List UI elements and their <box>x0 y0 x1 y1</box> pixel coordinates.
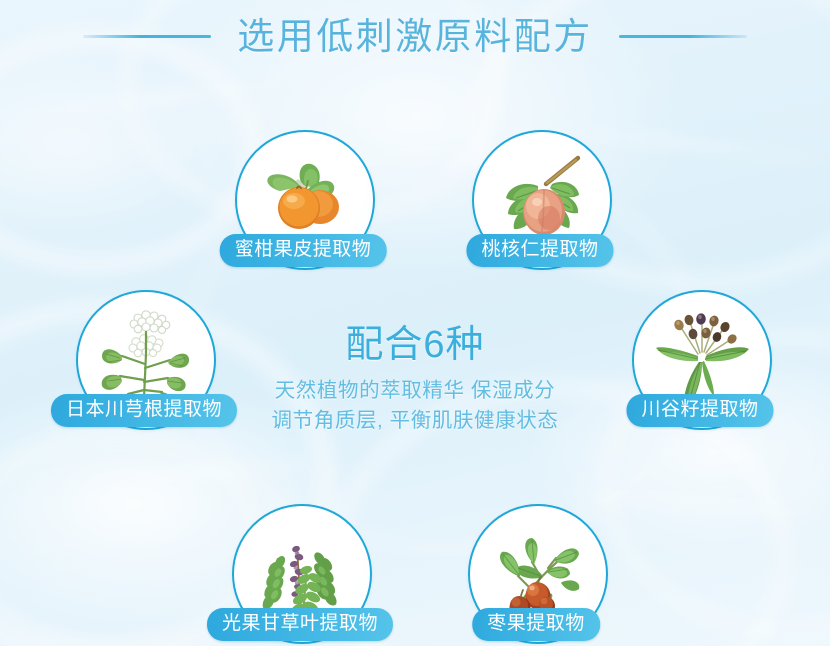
ingredient-label: 桃核仁提取物 <box>466 234 613 267</box>
ingredient-label: 枣果提取物 <box>472 608 600 641</box>
header: 选用低刺激原料配方 <box>0 0 830 72</box>
ingredient-label: 蜜柑果皮提取物 <box>220 234 387 267</box>
title-rule-left <box>83 35 211 38</box>
page-title: 选用低刺激原料配方 <box>237 18 593 55</box>
ingredient-badge-mandarin[interactable]: 蜜柑果皮提取物 <box>235 130 371 270</box>
water-streak <box>60 460 340 486</box>
center-subtext-line-1: 天然植物的萃取精华 保湿成分 <box>0 376 830 407</box>
center-headline: 配合6种 <box>0 324 830 367</box>
center-subtext: 天然植物的萃取精华 保湿成分 调节角质层, 平衡肌肤健康状态 <box>0 376 830 438</box>
ingredient-label: 光果甘草叶提取物 <box>207 608 393 641</box>
ingredient-badge-peach[interactable]: 桃核仁提取物 <box>472 130 608 270</box>
water-streak <box>1 78 300 122</box>
title-rule-right <box>619 35 747 38</box>
ingredient-badge-licorice[interactable]: 光果甘草叶提取物 <box>232 504 368 644</box>
center-subtext-line-2: 调节角质层, 平衡肌肤健康状态 <box>0 406 830 437</box>
center-copy-block: 配合6种 天然植物的萃取精华 保湿成分 调节角质层, 平衡肌肤健康状态 <box>0 324 830 437</box>
ingredient-badge-jujube[interactable]: 枣果提取物 <box>468 504 604 644</box>
infographic-canvas: 选用低刺激原料配方 <box>0 0 830 646</box>
